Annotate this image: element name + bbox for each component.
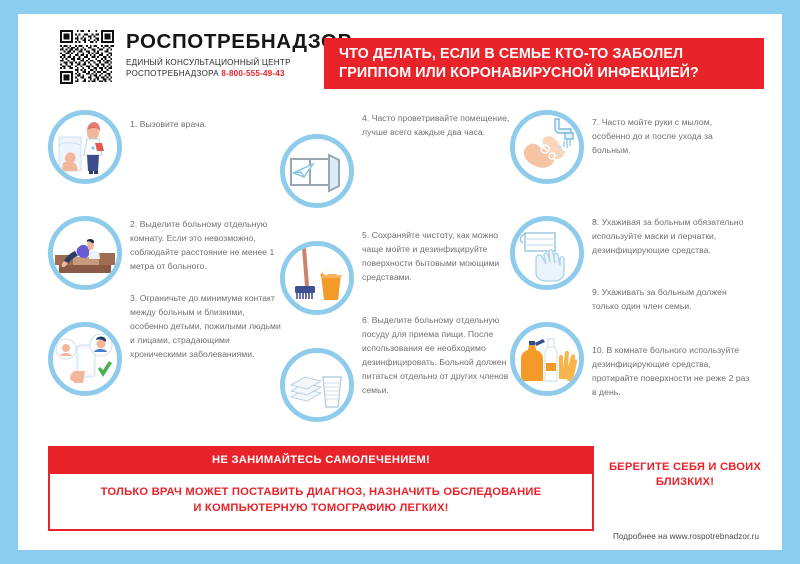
doctor-icon [48,110,122,184]
advice-text-3: 3. Ограничьте до минимума контакт между … [130,292,282,362]
advice-text-2: 2. Выделите больному отдельную комнату. … [130,218,282,274]
advice-text-10: 10. В комнате больного используйте дезин… [592,344,752,400]
advice-column-3: 7. Часто мойте руки с мылом, особенно до… [510,106,766,436]
closing-line-1: БЕРЕГИТЕ СЕБЯ И СВОИХ [600,460,770,475]
more-info-link[interactable]: Подробнее на www.rospotrebnadzor.ru [596,532,776,541]
consultation-center-line2: РОСПОТРЕБНАДЗОРА 8-800-555-49-43 [126,69,352,80]
open-window-icon [280,134,354,208]
closing-line-2: БЛИЗКИХ! [600,475,770,490]
mop-and-bucket-icon [280,241,354,315]
advice-text-4: 4. Часто проветривайте помещение, лучше … [362,112,512,140]
consultation-center-line1: ЕДИНЫЙ КОНСУЛЬТАЦИОННЫЙ ЦЕНТР [126,58,352,69]
advice-text-6: 6. Выделите больному отдельную посуду дл… [362,314,514,398]
mask-and-gloves-icon [510,216,584,290]
advice-text-7: 7. Часто мойте руки с мылом, особенно до… [592,116,752,158]
organization-name: РОСПОТРЕБНАДЗОР [126,32,352,53]
advice-columns: 1. Вызовите врача. [18,106,782,436]
advice-text-8: 8. Ухаживая за больным обязательно испол… [592,216,752,258]
warning-line-1: ТОЛЬКО ВРАЧ МОЖЕТ ПОСТАВИТЬ ДИАГНОЗ, НАЗ… [60,485,582,501]
brand-text: РОСПОТРЕБНАДЗОР ЕДИНЫЙ КОНСУЛЬТАЦИОННЫЙ … [126,30,352,80]
title-line-2: ГРИППОМ ИЛИ КОРОНАВИРУСНОЙ ИНФЕКЦИЕЙ? [339,64,764,83]
poster-header: РОСПОТРЕБНАДЗОР ЕДИНЫЙ КОНСУЛЬТАЦИОННЫЙ … [18,14,782,96]
hotline-phone[interactable]: 8-800-555-49-43 [221,69,284,78]
warning-heading: НЕ ЗАНИМАЙТЕСЬ САМОЛЕЧЕНИЕМ! [48,446,594,474]
closing-message: БЕРЕГИТЕ СЕБЯ И СВОИХ БЛИЗКИХ! [600,460,770,490]
advice-column-1: 1. Вызовите врача. [48,106,288,436]
advice-column-2: 4. Часто проветривайте помещение, лучше … [280,106,515,436]
advice-text-9: 9. Ухаживать за больным должен только од… [592,286,752,314]
warning-line-2: И КОМПЬЮТЕРНУЮ ТОМОГРАФИЮ ЛЕГКИХ! [60,501,582,517]
title-banner: ЧТО ДЕЛАТЬ, ЕСЛИ В СЕМЬЕ КТО-ТО ЗАБОЛЕЛ … [324,38,764,89]
brand-block: РОСПОТРЕБНАДЗОР ЕДИНЫЙ КОНСУЛЬТАЦИОННЫЙ … [60,30,352,84]
advice-text-1: 1. Вызовите врача. [130,118,282,132]
warning-body: ТОЛЬКО ВРАЧ МОЖЕТ ПОСТАВИТЬ ДИАГНОЗ, НАЗ… [48,474,594,531]
dishes-and-cup-icon [280,348,354,422]
poster-canvas: РОСПОТРЕБНАДЗОР ЕДИНЫЙ КОНСУЛЬТАЦИОННЫЙ … [18,14,782,550]
title-line-1: ЧТО ДЕЛАТЬ, ЕСЛИ В СЕМЬЕ КТО-ТО ЗАБОЛЕЛ [339,45,764,64]
disinfectant-spray-gloves-icon [510,322,584,396]
qr-code-icon [60,30,114,84]
advice-text-5: 5. Сохраняйте чистоту, как можно чаще мо… [362,229,512,285]
handwashing-icon [510,110,584,184]
person-resting-on-sofa-icon [48,216,122,290]
phone-call-contact-icon [48,322,122,396]
self-medication-warning: НЕ ЗАНИМАЙТЕСЬ САМОЛЕЧЕНИЕМ! ТОЛЬКО ВРАЧ… [48,446,594,531]
